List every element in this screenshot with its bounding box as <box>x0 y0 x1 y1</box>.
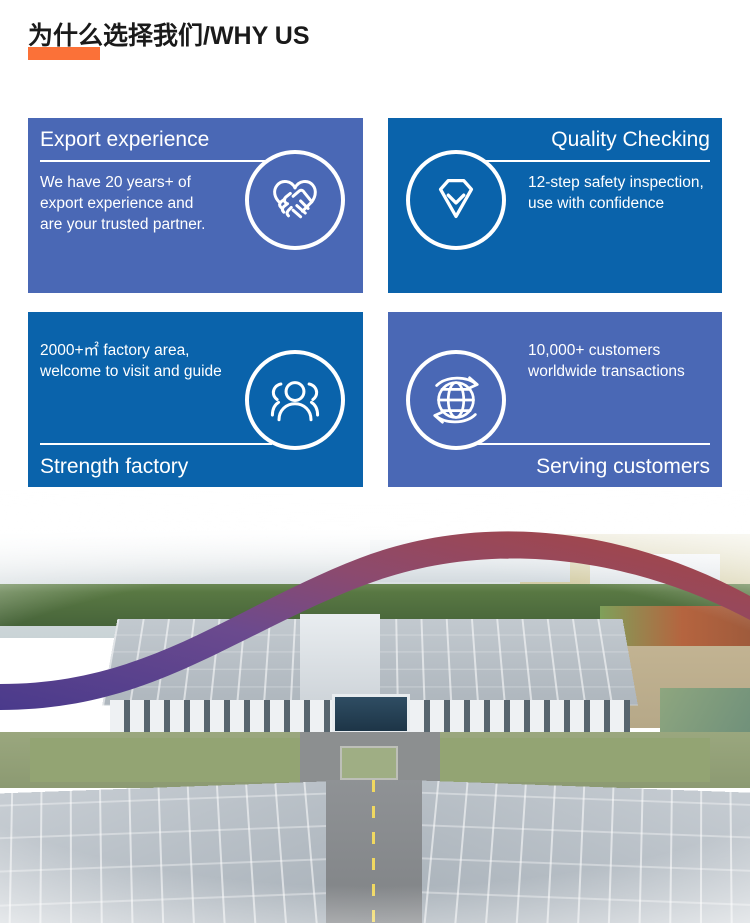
card-description: 10,000+ customers worldwide transactions <box>528 340 718 382</box>
card-divider <box>40 443 272 445</box>
card-description: 12-step safety inspection, use with conf… <box>528 172 718 214</box>
lower-left-warehouse-roof <box>0 780 377 923</box>
distant-office-buildings <box>370 540 570 582</box>
card-divider <box>40 160 272 162</box>
card-titlebar: Strength factory <box>28 445 313 487</box>
feature-cards-grid: Export experience We have 20 years+ of e… <box>0 118 750 488</box>
card-titlebar: Serving customers <box>438 445 722 487</box>
card-divider <box>478 160 710 162</box>
card-description: We have 20 years+ of export experience a… <box>40 172 220 235</box>
people-group-icon <box>245 350 345 450</box>
card-titlebar: Export experience <box>28 118 313 160</box>
card-description: 2000+㎡ factory area, welcome to visit an… <box>40 340 230 382</box>
card-divider <box>478 443 710 445</box>
globe-arrows-icon <box>406 350 506 450</box>
central-access-road <box>326 780 422 923</box>
handshake-heart-icon <box>245 150 345 250</box>
card-title: Serving customers <box>536 456 710 477</box>
page-header: 为什么选择我们/WHY US <box>0 0 750 100</box>
card-title: Export experience <box>40 129 209 150</box>
card-title: Strength factory <box>40 456 188 477</box>
factory-main-entrance <box>332 694 410 734</box>
plaza-island <box>340 746 398 780</box>
card-title: Quality Checking <box>551 129 710 150</box>
lower-right-warehouse-roof <box>393 780 750 923</box>
lawn-left <box>30 738 300 782</box>
title-underline-accent <box>28 47 100 60</box>
lawn-right <box>440 738 710 782</box>
photo-scene <box>0 488 750 923</box>
card-titlebar: Quality Checking <box>438 118 722 160</box>
factory-aerial-photo <box>0 488 750 923</box>
roof-ridge-block <box>300 614 380 700</box>
diamond-check-icon <box>406 150 506 250</box>
